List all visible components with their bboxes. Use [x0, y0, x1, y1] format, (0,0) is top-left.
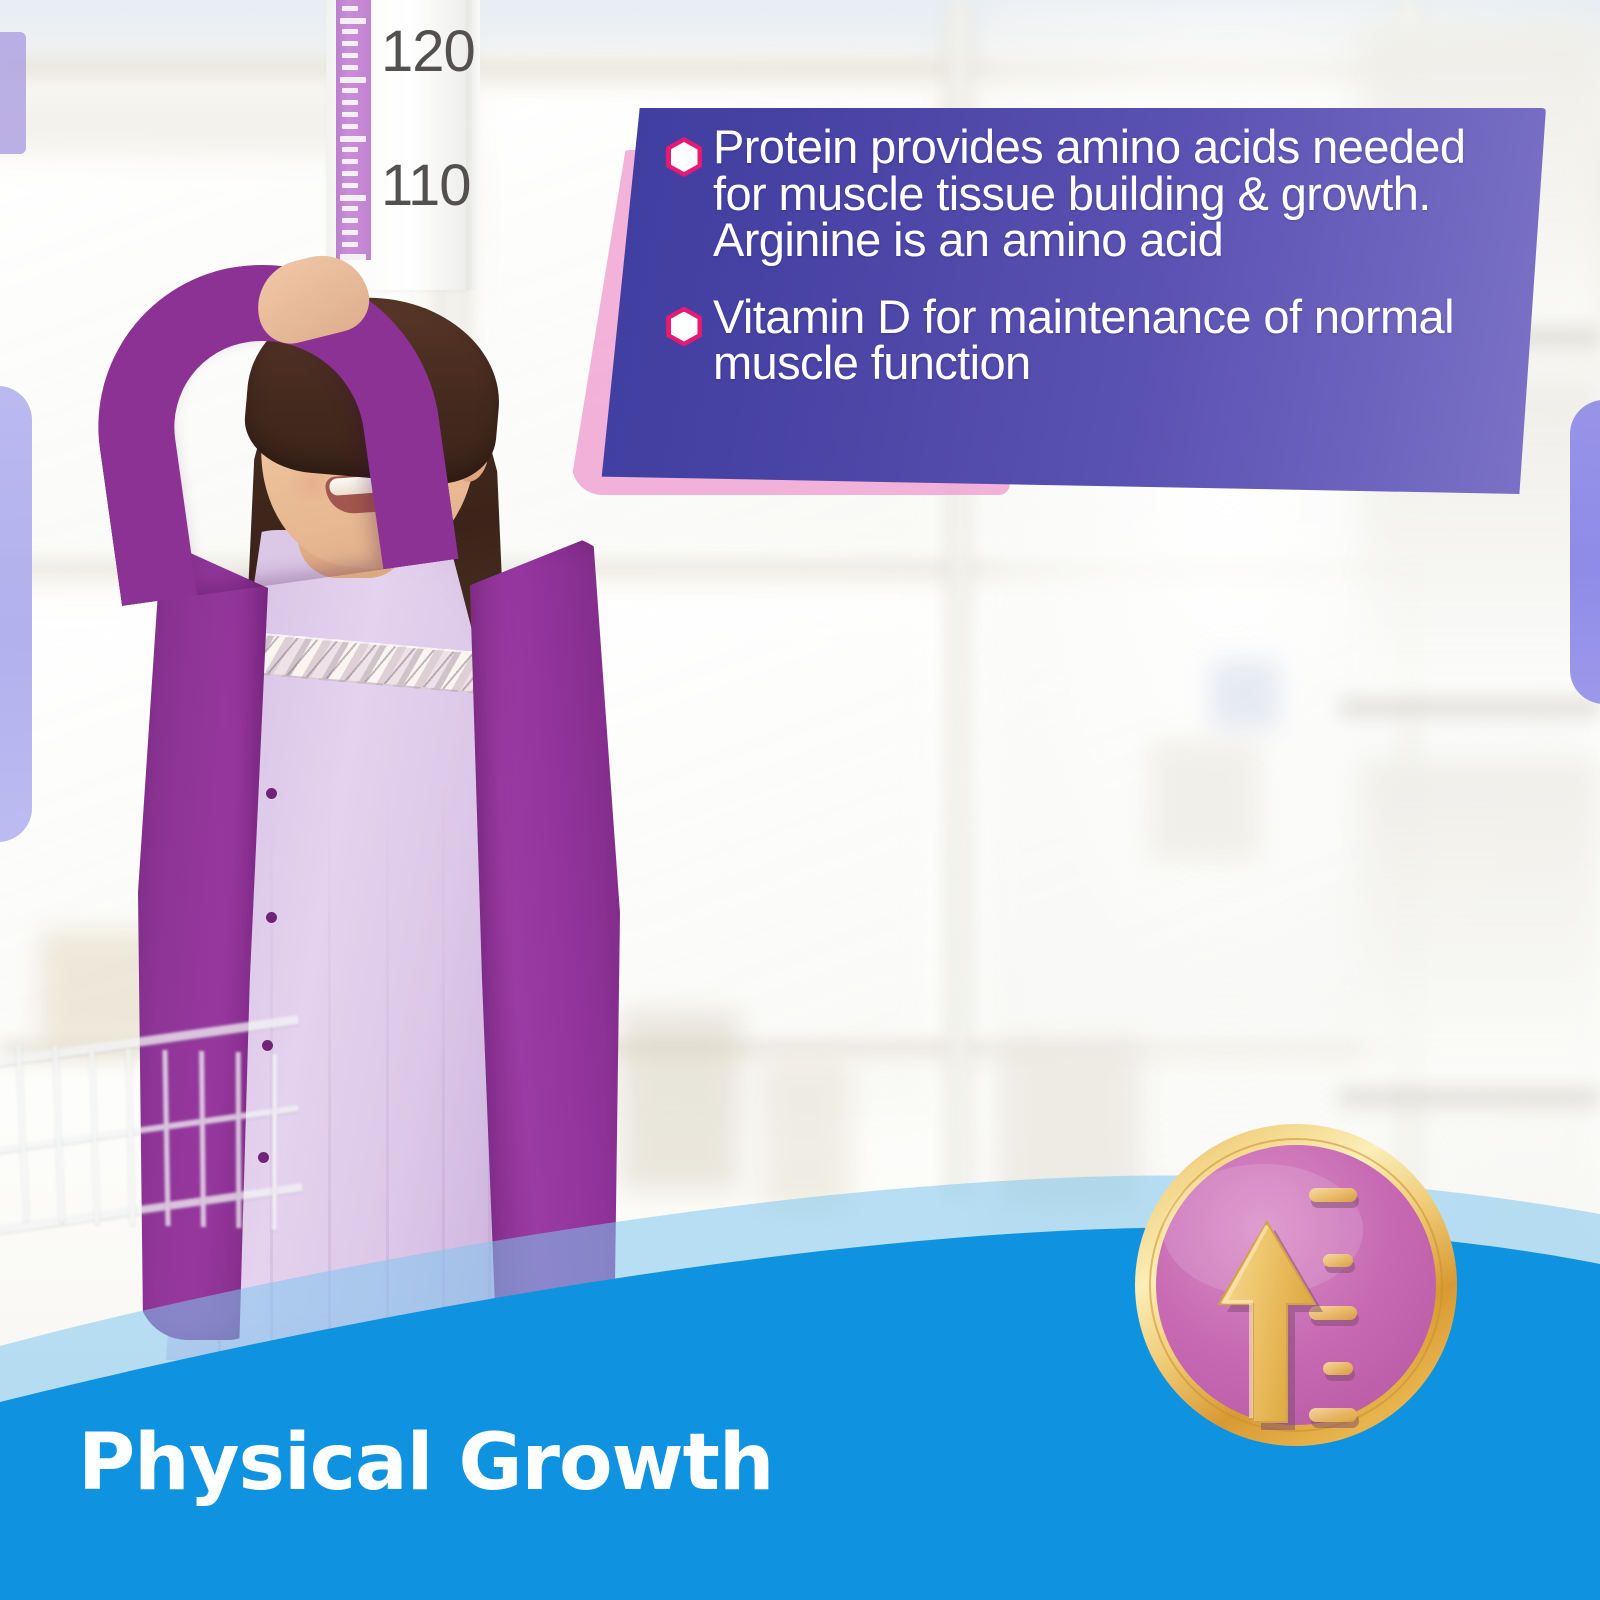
ruler-tick-label-110: 110 [381, 152, 470, 219]
ruler-tick [342, 100, 358, 105]
bullet-text-protein: Protein provides amino acids needed for … [713, 124, 1502, 264]
ruler-tick [342, 112, 358, 117]
ruler-tick [342, 171, 358, 176]
ruler-tick [340, 77, 366, 83]
height-ruler-strip [336, 0, 371, 260]
ruler-tick [342, 230, 358, 235]
hexagon-bullet-icon [666, 137, 702, 177]
bullet-item: Vitamin D for maintenance of normal musc… [666, 294, 1502, 387]
left-edge-accent-tab [0, 386, 32, 842]
hexagon-bullet-icon [666, 307, 702, 347]
ruler-tick [342, 218, 358, 223]
ruler-tick [342, 183, 358, 188]
infographic-card: 120 110 [0, 0, 1600, 1600]
ruler-tick [342, 159, 358, 164]
bullet-text-vitamin-d: Vitamin D for maintenance of normal musc… [713, 294, 1502, 387]
ruler-tick [342, 65, 358, 70]
right-edge-accent-tab [1570, 400, 1600, 704]
cardigan-button [266, 788, 277, 799]
page-title: Physical Growth [78, 1418, 773, 1508]
ruler-tick [342, 6, 358, 11]
ruler-tick [342, 147, 358, 152]
cart-wire [0, 1015, 299, 1070]
ruler-tick [340, 195, 366, 201]
corner-accent-chip [0, 32, 26, 154]
cart-wire [0, 1105, 299, 1157]
ruler-tick [340, 136, 366, 142]
ruler-tick [342, 124, 358, 129]
physical-growth-badge [1133, 1122, 1459, 1448]
ruler-tick-label-120: 120 [381, 18, 475, 85]
ruler-tick [340, 18, 366, 24]
ruler-tick [342, 53, 358, 58]
ruler-tick [342, 206, 358, 211]
ruler-tick [342, 88, 358, 93]
ruler-tick [342, 29, 358, 34]
info-panel: Protein provides amino acids needed for … [596, 108, 1546, 494]
ruler-tick [342, 41, 358, 46]
cardigan-button [266, 912, 277, 923]
bullet-item: Protein provides amino acids needed for … [666, 124, 1502, 264]
